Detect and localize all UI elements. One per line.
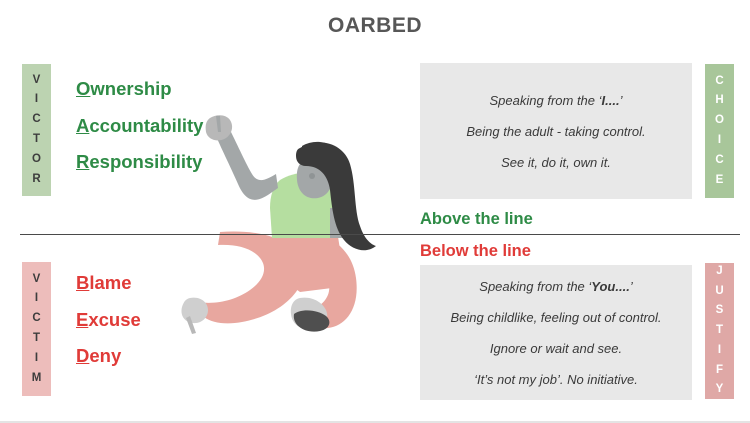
- justify-letter: Y: [716, 380, 724, 400]
- victor-letter: V: [33, 71, 41, 91]
- choice-vertical-label: C H O I C E: [705, 64, 734, 198]
- person-illustration: [160, 112, 410, 342]
- keyword-ownership: Ownership: [76, 80, 203, 99]
- keyword-blame: Blame: [76, 274, 141, 293]
- statement-line: Being the adult - taking control.: [466, 125, 645, 138]
- keyword-deny: Deny: [76, 347, 141, 366]
- keyword-initial: A: [76, 115, 89, 136]
- statement-line: Speaking from the ‘I....’: [490, 94, 623, 107]
- shoe-left-upper: [181, 298, 208, 323]
- statement-pre: Ignore or wait and see.: [490, 341, 622, 356]
- victor-letter: C: [32, 110, 40, 130]
- above-the-line-statements-panel: Speaking from the ‘I....’ Being the adul…: [420, 63, 692, 199]
- justify-letter: J: [716, 262, 722, 282]
- victim-letter: I: [35, 349, 38, 369]
- page-title: OARBED: [0, 14, 750, 38]
- victim-letter: C: [32, 309, 40, 329]
- victim-letter: V: [33, 270, 41, 290]
- keyword-rest: eny: [89, 345, 121, 366]
- below-the-line-keywords: Blame Excuse Deny: [76, 274, 141, 384]
- victim-letter: M: [32, 369, 42, 389]
- the-line-divider: [20, 234, 740, 235]
- justify-letter: T: [716, 321, 723, 341]
- statement-pre: ‘It’s not my job’. No initiative.: [474, 372, 638, 387]
- above-the-line-caption: Above the line: [420, 211, 533, 228]
- statement-pre: Speaking from the ‘: [490, 93, 602, 108]
- keyword-initial: R: [76, 151, 89, 172]
- statement-post: ’: [620, 93, 623, 108]
- choice-letter: C: [715, 151, 723, 171]
- keyword-rest: wnership: [90, 78, 171, 99]
- justify-letter: U: [715, 282, 723, 302]
- below-the-line-statements-panel: Speaking from the ‘You....’ Being childl…: [420, 265, 692, 400]
- victor-vertical-label: V I C T O R: [22, 64, 51, 196]
- justify-vertical-label: J U S T I F Y: [705, 263, 734, 399]
- keyword-excuse: Excuse: [76, 311, 141, 330]
- below-the-line-caption: Below the line: [420, 243, 531, 260]
- justify-letter: I: [718, 341, 721, 361]
- justify-letter: S: [716, 301, 724, 321]
- keyword-initial: B: [76, 272, 89, 293]
- victor-letter: O: [32, 150, 41, 170]
- choice-letter: I: [718, 131, 721, 151]
- keyword-rest: lame: [89, 272, 131, 293]
- choice-letter: H: [715, 91, 723, 111]
- justify-letter: F: [716, 361, 723, 381]
- choice-letter: O: [715, 111, 724, 131]
- statement-post: ’: [630, 279, 633, 294]
- victor-letter: I: [35, 90, 38, 110]
- choice-letter: C: [715, 72, 723, 92]
- victim-letter: T: [33, 329, 40, 349]
- statement-pre: Speaking from the ‘: [479, 279, 591, 294]
- statement-bold: I....: [602, 93, 620, 108]
- victim-letter: I: [35, 289, 38, 309]
- victor-letter: T: [33, 130, 40, 150]
- oarbed-slide: OARBED V I C T O R V I C T I M C H O I C…: [0, 0, 750, 423]
- statement-pre: Being childlike, feeling out of control.: [450, 310, 661, 325]
- statement-pre: Being the adult - taking control.: [466, 124, 645, 139]
- statement-line: Being childlike, feeling out of control.: [450, 311, 661, 324]
- statement-bold: You....: [591, 279, 630, 294]
- keyword-rest: xcuse: [88, 309, 140, 330]
- ear-shape: [309, 173, 315, 179]
- victor-letter: R: [32, 170, 40, 190]
- arm-shape: [216, 130, 278, 200]
- statement-line: Speaking from the ‘You....’: [479, 280, 632, 293]
- choice-letter: E: [716, 171, 724, 191]
- statement-line: See it, do it, own it.: [501, 156, 611, 169]
- victim-vertical-label: V I C T I M: [22, 262, 51, 396]
- keyword-initial: O: [76, 78, 90, 99]
- keyword-initial: E: [76, 309, 88, 330]
- statement-line: ‘It’s not my job’. No initiative.: [474, 373, 638, 386]
- statement-pre: See it, do it, own it.: [501, 155, 611, 170]
- keyword-initial: D: [76, 345, 89, 366]
- statement-line: Ignore or wait and see.: [490, 342, 622, 355]
